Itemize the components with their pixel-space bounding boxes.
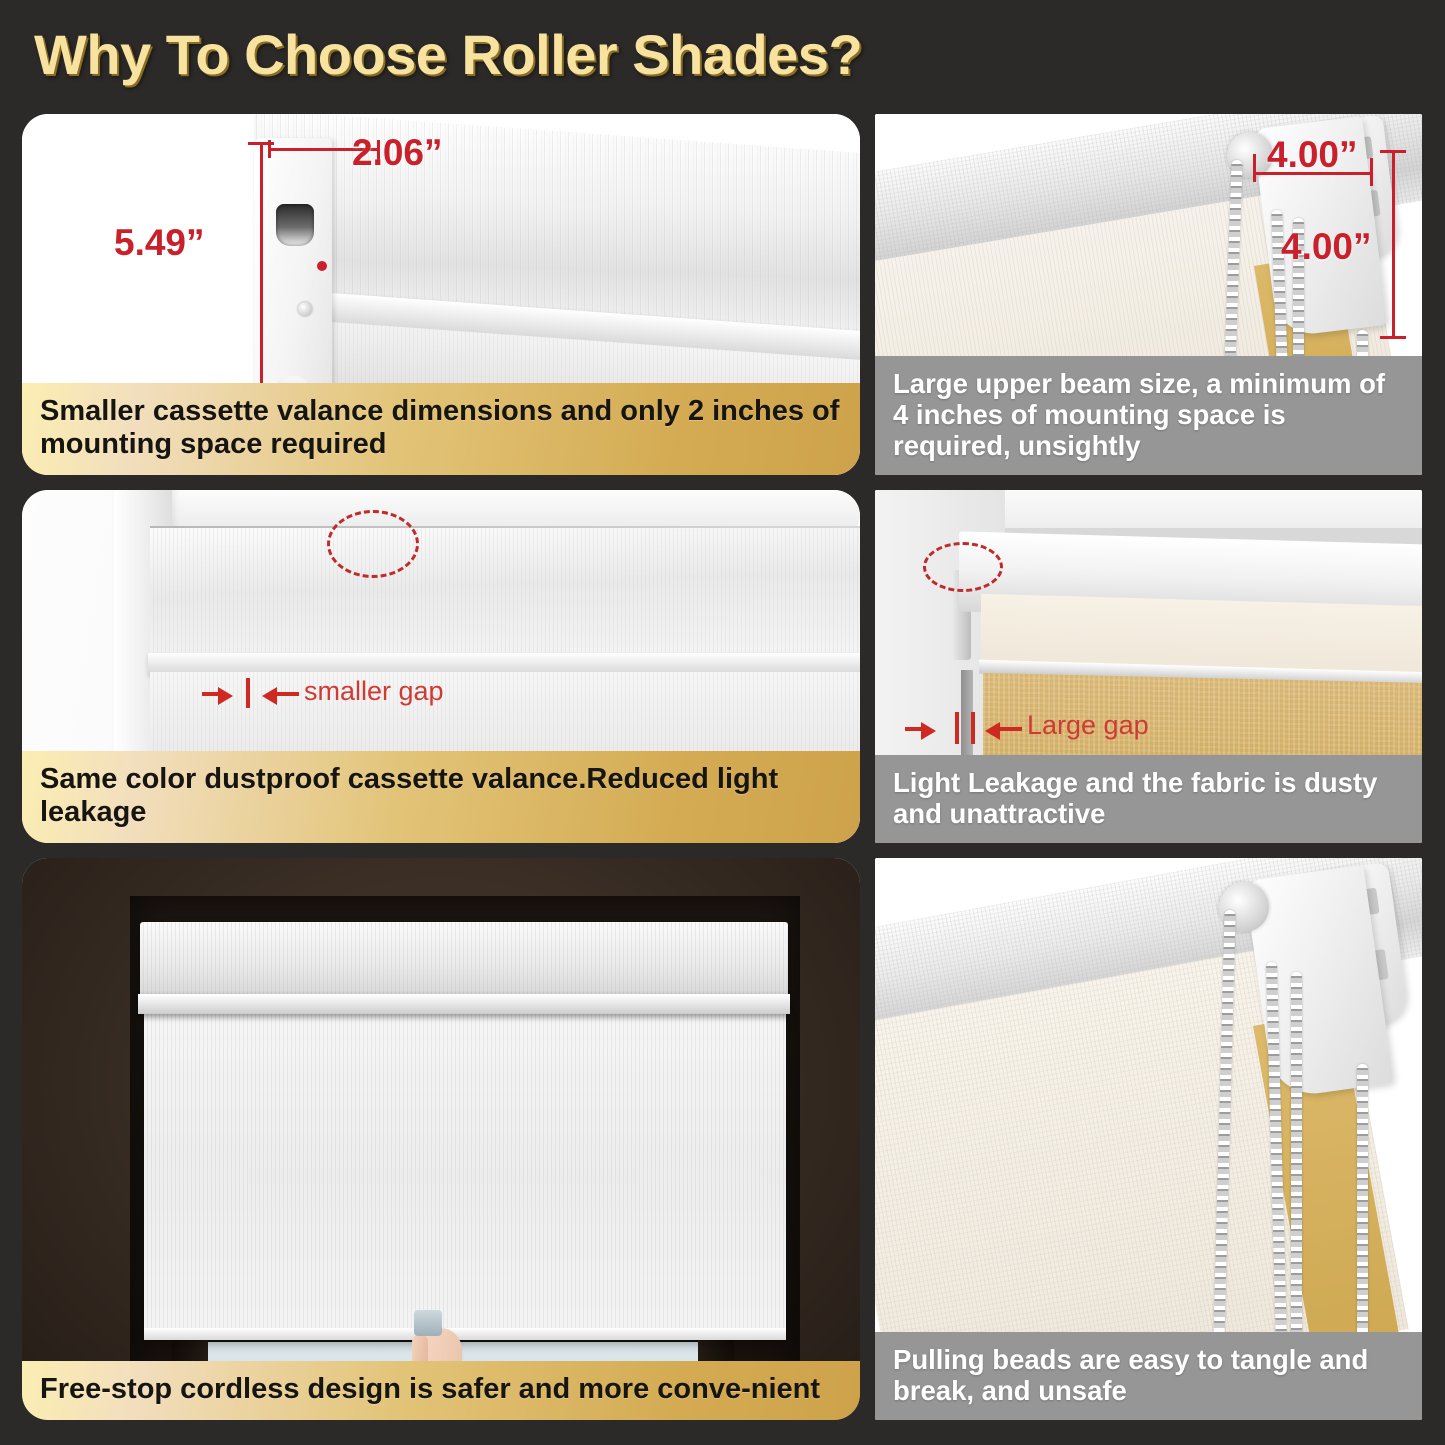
panel-caption: Light Leakage and the fabric is dusty an…	[875, 755, 1422, 843]
highlight-circle	[923, 542, 1003, 592]
arrow-right-icon	[218, 687, 233, 705]
panel-light-leakage: Large gap Light Leakage and the fabric i…	[875, 490, 1422, 843]
panel-caption: Smaller cassette valance dimensions and …	[22, 383, 860, 475]
dimension-label-beam-width: 4.00”	[1267, 134, 1358, 176]
panel-caption: Pulling beads are easy to tangle and bre…	[875, 1332, 1422, 1420]
bead-chain	[1291, 972, 1302, 1348]
panel-caption: Free-stop cordless design is safer and m…	[22, 1361, 860, 1420]
page-title: Why To Choose Roller Shades?	[34, 22, 862, 87]
gap-callout-label: smaller gap	[304, 676, 444, 707]
bead-chain	[1357, 1064, 1368, 1344]
panel-caption: Large upper beam size, a minimum of 4 in…	[875, 356, 1422, 475]
gap-callout-label: Large gap	[1027, 710, 1149, 741]
highlight-circle	[327, 510, 419, 578]
panel-large-upper-beam: 4.00” 4.00” Large upper beam size, a min…	[875, 114, 1422, 475]
panel-smaller-cassette: 2.06” 5.49” Smaller cassette valance dim…	[22, 114, 860, 475]
product-photo-room-window	[22, 858, 860, 1420]
arrow-left-icon	[985, 722, 1000, 740]
dimension-label-width: 2.06”	[352, 132, 443, 174]
dimension-label-beam-height: 4.00”	[1281, 226, 1372, 268]
panel-dustproof-valance: smaller gap Same color dustproof cassett…	[22, 490, 860, 843]
arrow-left-icon	[262, 687, 277, 705]
panel-cordless-design: Free-stop cordless design is safer and m…	[22, 858, 860, 1420]
pull-handle	[414, 1310, 442, 1336]
dimension-label-height: 5.49”	[114, 222, 205, 264]
panel-caption: Same color dustproof cassette valance.Re…	[22, 751, 860, 843]
page-header: Why To Choose Roller Shades?	[0, 0, 1445, 108]
panel-pulling-beads: Pulling beads are easy to tangle and bre…	[875, 858, 1422, 1420]
arrow-right-icon	[921, 722, 936, 740]
